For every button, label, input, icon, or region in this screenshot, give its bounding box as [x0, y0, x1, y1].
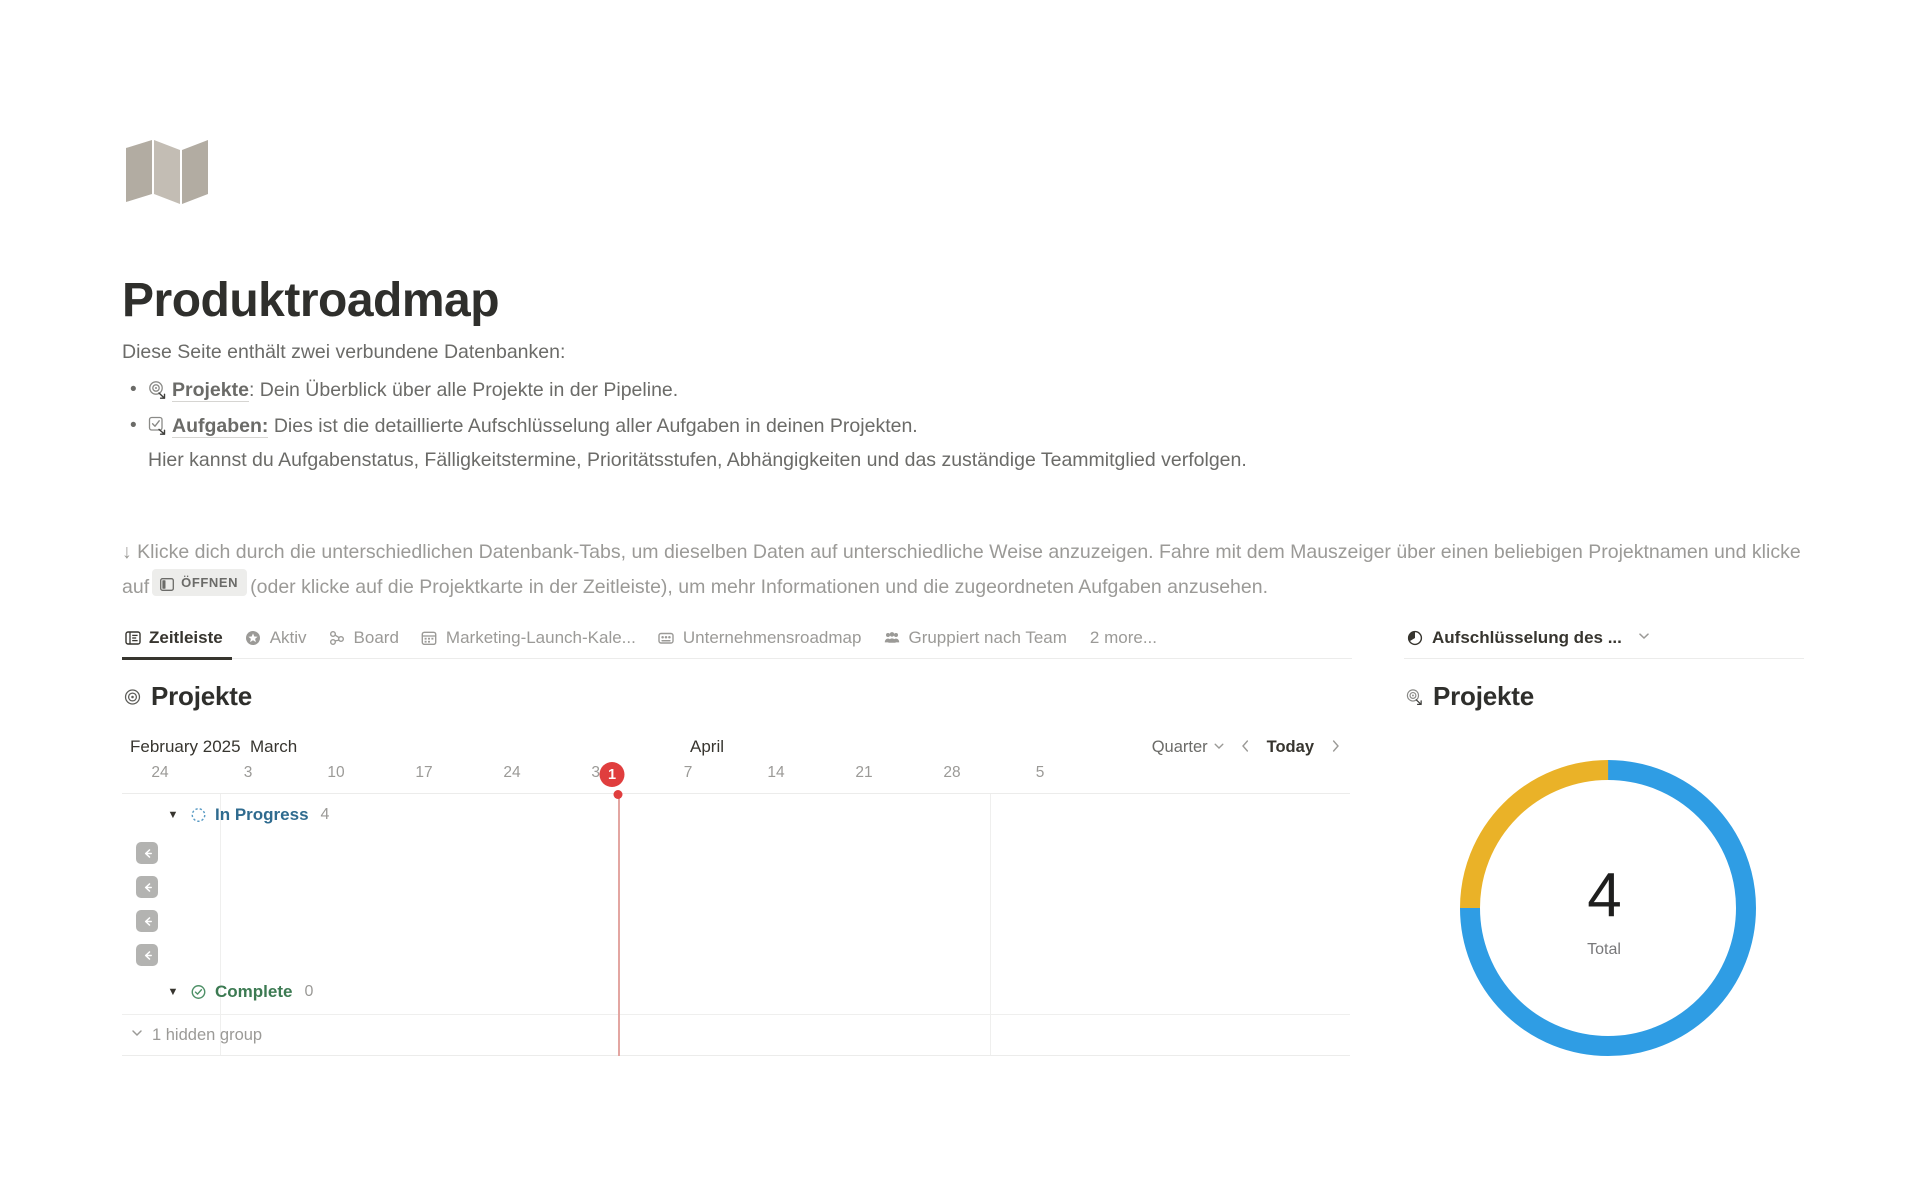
- day-tick: 5: [1036, 764, 1045, 782]
- group-count: 4: [321, 806, 330, 824]
- helper-text-part2: (oder klicke auf die Projektkarte in der…: [250, 576, 1268, 598]
- day-tick: 24: [151, 764, 168, 782]
- bullet-content: Projekte: Dein Überblick über alle Proje…: [148, 375, 1822, 405]
- donut-chart[interactable]: 4 Total: [1404, 748, 1804, 1068]
- tab-label: Aktiv: [270, 628, 307, 648]
- donut-total-caption: Total: [1404, 941, 1804, 959]
- chevron-down-icon: [130, 1026, 144, 1045]
- tab-unternehmensroadmap[interactable]: Unternehmensroadmap: [647, 617, 873, 659]
- hidden-group-toggle[interactable]: 1 hidden group: [122, 1013, 1350, 1057]
- timeline-month: April: [690, 737, 724, 757]
- people-icon: [883, 629, 900, 646]
- bullet-text: Dies ist die detaillierte Aufschlüsselun…: [268, 415, 917, 437]
- helper-paragraph: ↓ Klicke dich durch die unterschiedliche…: [122, 537, 1812, 603]
- board-icon: [329, 629, 346, 646]
- bullet-subtext: Hier kannst du Aufgabenstatus, Fälligkei…: [148, 445, 1822, 475]
- tab-aktiv[interactable]: Aktiv: [234, 617, 318, 659]
- caret-down-icon[interactable]: ▼: [166, 808, 180, 822]
- zoom-level-select[interactable]: Quarter: [1148, 736, 1229, 759]
- today-marker: 1: [600, 762, 625, 787]
- group-label: Complete: [215, 982, 292, 1002]
- calendar-icon: [421, 629, 438, 646]
- table-row[interactable]: [122, 904, 1350, 938]
- arrow-left-handle-icon[interactable]: [136, 842, 158, 864]
- chevron-left-icon[interactable]: [1235, 737, 1255, 758]
- database-title-row: Projekte: [124, 681, 1352, 712]
- breakdown-panel-header[interactable]: Aufschlüsselung des ...: [1404, 617, 1804, 659]
- chevron-down-icon[interactable]: [1637, 629, 1651, 646]
- breakdown-database-title: Projekte: [1433, 681, 1534, 712]
- projekte-db-link[interactable]: Projekte: [172, 379, 249, 402]
- donut-total-value: 4: [1404, 865, 1804, 927]
- open-panel-icon: [160, 576, 174, 589]
- database-views: Zeitleiste Aktiv: [122, 617, 1352, 1056]
- day-tick: 28: [943, 764, 960, 782]
- complete-icon: [190, 984, 207, 1001]
- bullet-list: • Projekte: Dein Überblick über alle Pro…: [122, 375, 1822, 482]
- table-row[interactable]: [122, 870, 1350, 904]
- timeline-controls: Quarter Today: [1148, 732, 1346, 762]
- donut-center-label: 4 Total: [1404, 865, 1804, 959]
- day-tick: 17: [415, 764, 432, 782]
- bullet-content: Aufgaben: Dies ist die detaillierte Aufs…: [148, 411, 1822, 475]
- day-tick: 3: [244, 764, 253, 782]
- database-title: Projekte: [151, 681, 252, 712]
- group-label: In Progress: [215, 805, 309, 825]
- arrow-left-handle-icon[interactable]: [136, 876, 158, 898]
- arrow-left-handle-icon[interactable]: [136, 944, 158, 966]
- day-tick: 24: [503, 764, 520, 782]
- bullet-marker: •: [122, 375, 148, 404]
- arrow-left-handle-icon[interactable]: [136, 910, 158, 932]
- timeline-view: February 2025 March April Quarter Today: [122, 732, 1350, 1056]
- timeline-group-header-in-progress[interactable]: ▼ In Progress 4: [122, 794, 1350, 836]
- pie-chart-icon: [1406, 629, 1423, 646]
- in-progress-icon: [190, 807, 207, 824]
- today-button[interactable]: Today: [1261, 736, 1320, 759]
- day-tick: 21: [855, 764, 872, 782]
- target-link-icon: [1406, 688, 1423, 705]
- day-tick: 14: [767, 764, 784, 782]
- today-line: [618, 794, 620, 1056]
- list-item: • Aufgaben: Dies ist die detaillierte Au…: [122, 411, 1822, 475]
- tab-label: Unternehmensroadmap: [683, 628, 862, 648]
- task-link-icon: [148, 414, 167, 433]
- breakdown-database-title-row: Projekte: [1406, 681, 1804, 712]
- bullet-marker: •: [122, 411, 148, 440]
- target-icon: [124, 688, 141, 705]
- table-row[interactable]: [122, 938, 1350, 972]
- tab-label: Board: [354, 628, 399, 648]
- tab-more-button[interactable]: 2 more...: [1078, 628, 1169, 648]
- group-count: 0: [304, 983, 313, 1001]
- timeline-topbar: February 2025 March April Quarter Today: [122, 732, 1350, 762]
- caret-down-icon[interactable]: ▼: [166, 985, 180, 999]
- today-dot: [614, 790, 623, 799]
- bullet-text: : Dein Überblick über alle Projekte in d…: [249, 379, 678, 401]
- chevron-right-icon[interactable]: [1326, 737, 1346, 758]
- tab-board[interactable]: Board: [318, 617, 410, 659]
- day-tick: 7: [684, 764, 693, 782]
- timeline-group-header-complete[interactable]: ▼ Complete 0: [122, 972, 1350, 1012]
- hidden-group-label: 1 hidden group: [152, 1026, 262, 1045]
- active-star-icon: [245, 629, 262, 646]
- zoom-level-label: Quarter: [1152, 738, 1208, 757]
- breakdown-title: Aufschlüsselung des ...: [1432, 628, 1622, 648]
- aufgaben-db-link[interactable]: Aufgaben:: [172, 415, 268, 438]
- map-icon[interactable]: [124, 138, 210, 204]
- timeline-icon: [124, 629, 141, 646]
- day-tick: 10: [327, 764, 344, 782]
- gallery-icon: [658, 629, 675, 646]
- timeline-body: ▼ In Progress 4: [122, 794, 1350, 1056]
- tab-marketing-launch-kalender[interactable]: Marketing-Launch-Kale...: [410, 617, 647, 659]
- list-item: • Projekte: Dein Überblick über alle Pro…: [122, 375, 1822, 405]
- view-tabbar: Zeitleiste Aktiv: [122, 617, 1352, 659]
- tab-label: Zeitleiste: [149, 628, 223, 648]
- breakdown-panel: Aufschlüsselung des ... Projekte: [1404, 617, 1804, 1068]
- target-link-icon: [148, 378, 167, 397]
- tab-gruppiert-nach-team[interactable]: Gruppiert nach Team: [872, 617, 1077, 659]
- chevron-down-icon: [1213, 738, 1225, 757]
- tab-zeitleiste[interactable]: Zeitleiste: [122, 617, 234, 659]
- page-title: Produktroadmap: [122, 275, 499, 328]
- open-chip-label: ÖFFNEN: [181, 572, 238, 593]
- tab-label: Marketing-Launch-Kale...: [446, 628, 636, 648]
- timeline-day-header: 24 3 10 17 24 31 7 14 21 28 5 1: [122, 762, 1350, 794]
- open-chip-button[interactable]: ÖFFNEN: [152, 569, 247, 596]
- intro-paragraph: Diese Seite enthält zwei verbundene Date…: [122, 338, 565, 367]
- timeline-month: February 2025: [130, 737, 241, 757]
- table-row[interactable]: [122, 836, 1350, 870]
- page-root: Produktroadmap Diese Seite enthält zwei …: [0, 0, 1920, 1199]
- tab-label: Gruppiert nach Team: [908, 628, 1066, 648]
- timeline-month: March: [250, 737, 297, 757]
